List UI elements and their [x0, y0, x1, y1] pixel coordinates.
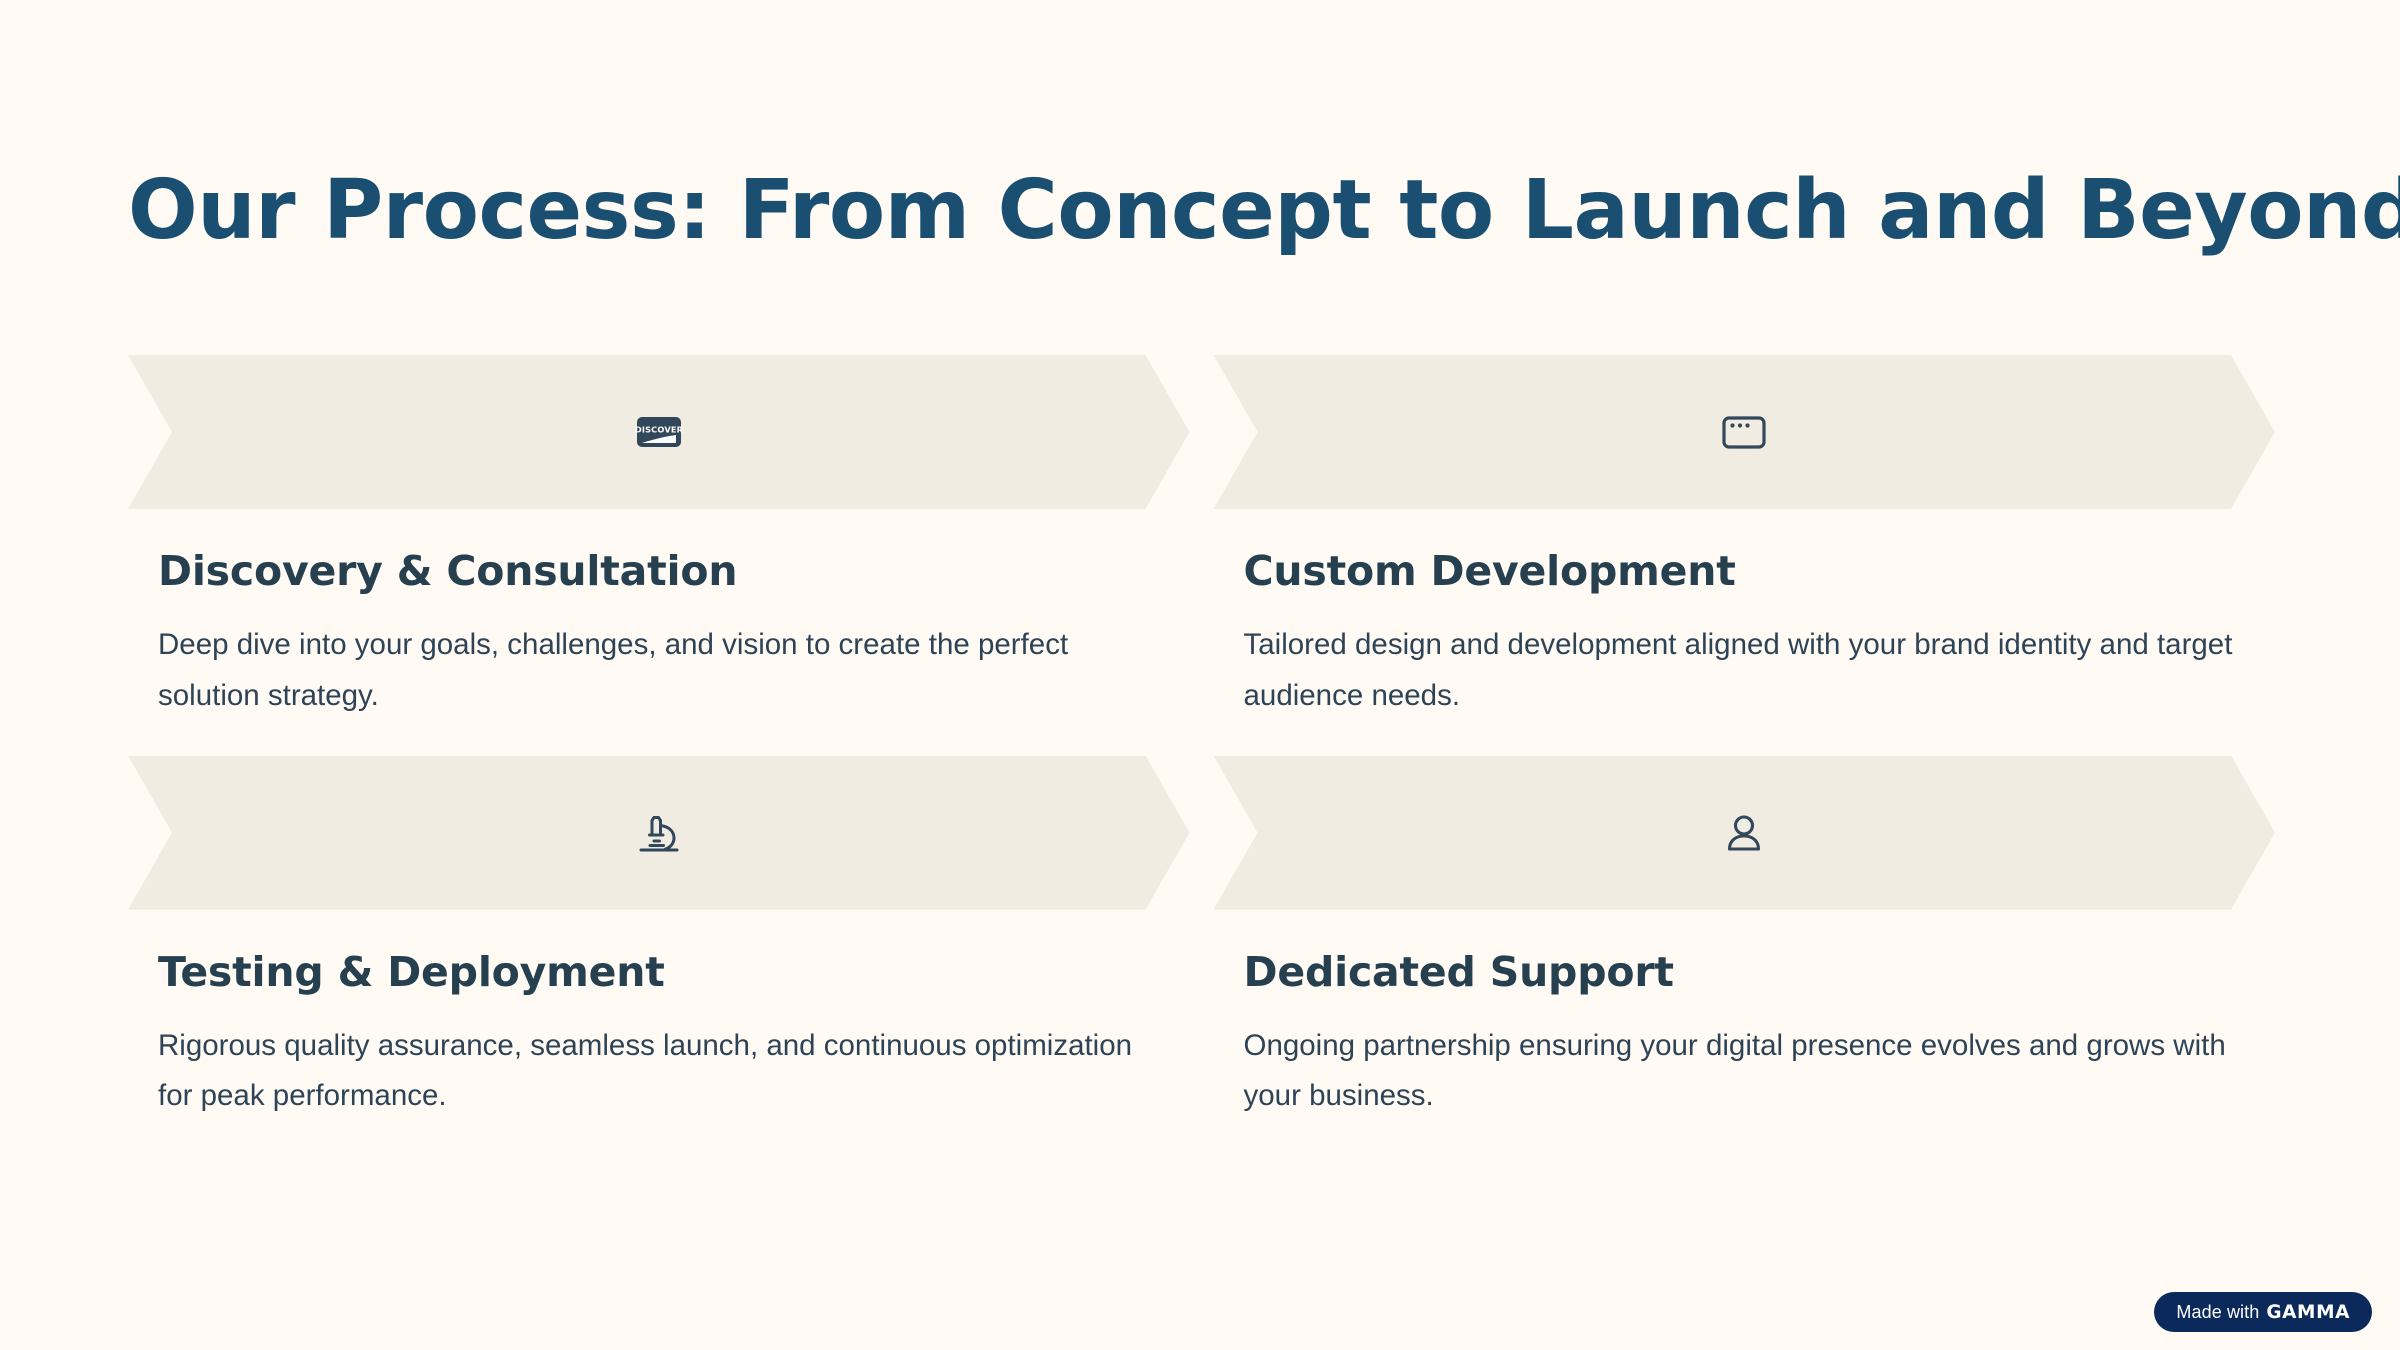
- card-body: Testing & Deployment Rigorous quality as…: [128, 910, 1190, 1123]
- card-description: Tailored design and development aligned …: [1244, 620, 2244, 721]
- discover-card-icon: DISCOVER: [630, 403, 688, 461]
- microscope-icon: [630, 804, 688, 862]
- card-body: Discovery & Consultation Deep dive into …: [128, 509, 1190, 722]
- user-person-icon: [1715, 804, 1773, 862]
- badge-made-with-label: Made with: [2176, 1302, 2259, 1323]
- process-card-grid: DISCOVER Discovery & Consultation Deep d…: [128, 355, 2275, 1122]
- card-body: Custom Development Tailored design and d…: [1214, 509, 2276, 722]
- card-heading: Discovery & Consultation: [158, 549, 1160, 594]
- card-heading: Custom Development: [1244, 549, 2246, 594]
- page-title: Our Process: From Concept to Launch and …: [128, 168, 2400, 254]
- badge-brand-label: GAMMA: [2266, 1302, 2350, 1323]
- card-description: Deep dive into your goals, challenges, a…: [158, 620, 1158, 721]
- card-description: Rigorous quality assurance, seamless lau…: [158, 1021, 1158, 1122]
- browser-window-icon: [1715, 403, 1773, 461]
- card-banner: [1214, 756, 2276, 910]
- card-banner: DISCOVER: [128, 355, 1190, 509]
- card-description: Ongoing partnership ensuring your digita…: [1244, 1021, 2244, 1122]
- card-heading: Dedicated Support: [1244, 950, 2246, 995]
- process-card-discovery[interactable]: DISCOVER Discovery & Consultation Deep d…: [128, 355, 1190, 722]
- made-with-gamma-badge[interactable]: Made with GAMMA: [2154, 1292, 2372, 1332]
- process-card-testing-deployment[interactable]: Testing & Deployment Rigorous quality as…: [128, 756, 1190, 1123]
- process-card-dedicated-support[interactable]: Dedicated Support Ongoing partnership en…: [1214, 756, 2276, 1123]
- card-heading: Testing & Deployment: [158, 950, 1160, 995]
- card-banner: [1214, 355, 2276, 509]
- svg-text:DISCOVER: DISCOVER: [635, 425, 684, 435]
- card-body: Dedicated Support Ongoing partnership en…: [1214, 910, 2276, 1123]
- process-card-custom-development[interactable]: Custom Development Tailored design and d…: [1214, 355, 2276, 722]
- card-banner: [128, 756, 1190, 910]
